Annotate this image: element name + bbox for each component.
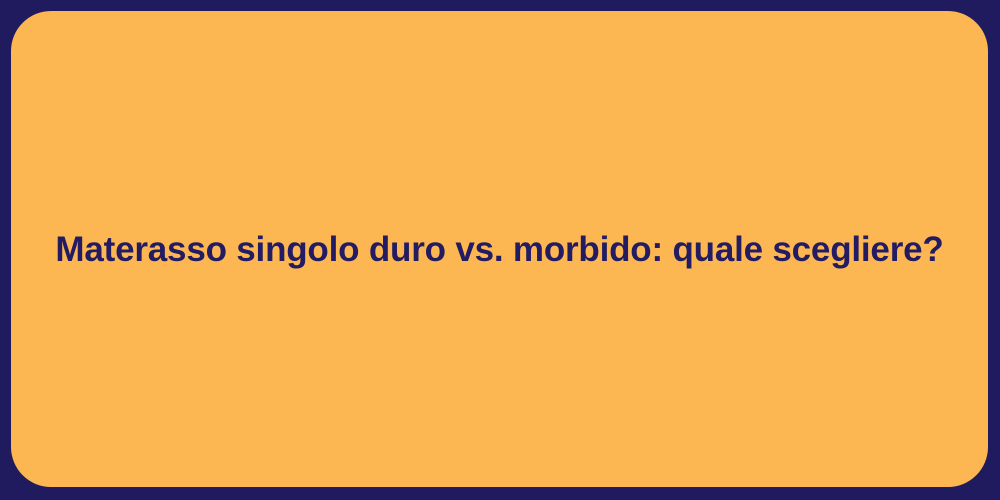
banner-headline: Materasso singolo duro vs. morbido: qual… [15, 229, 983, 271]
banner-card: Materasso singolo duro vs. morbido: qual… [11, 11, 988, 487]
article-banner: Materasso singolo duro vs. morbido: qual… [0, 0, 1000, 500]
